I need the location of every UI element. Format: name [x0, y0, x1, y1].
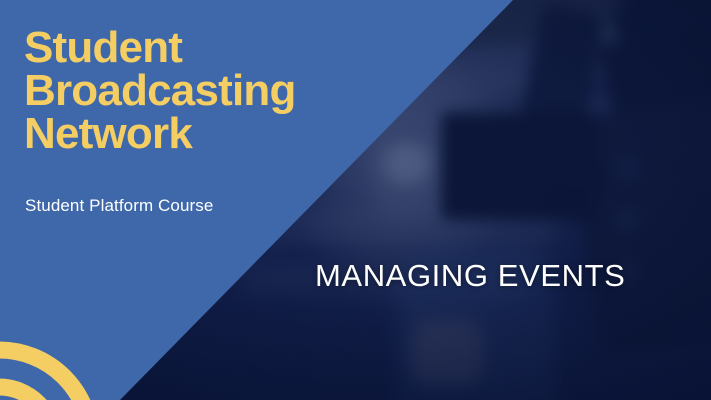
- lesson-title: MANAGING EVENTS: [315, 258, 625, 294]
- broadcast-waves-logo: [0, 292, 144, 400]
- course-title-slide: Student Broadcasting Network Student Pla…: [0, 0, 711, 400]
- course-subtitle: Student Platform Course: [25, 196, 213, 216]
- page-title: Student Broadcasting Network: [24, 26, 424, 155]
